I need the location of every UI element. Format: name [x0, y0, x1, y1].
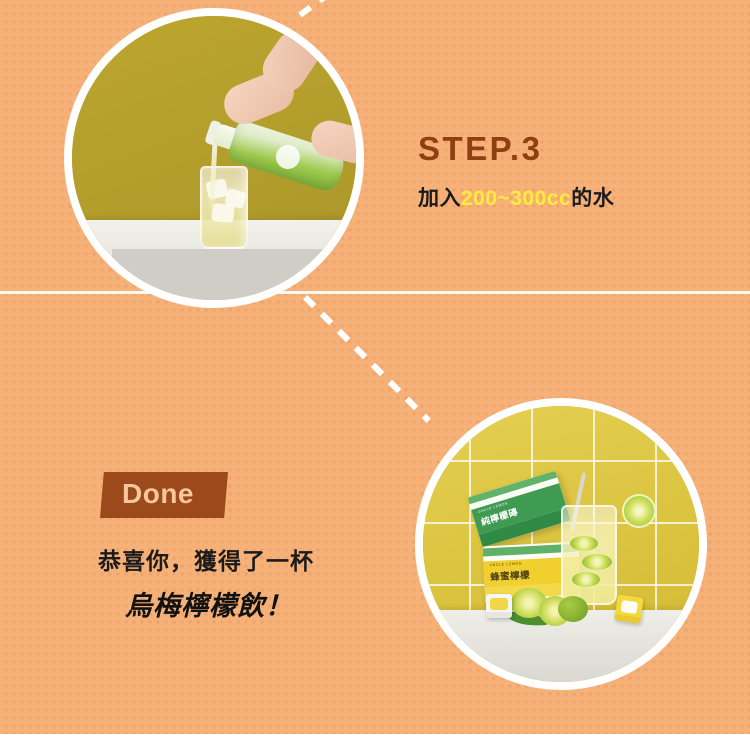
step-instruction: 加入200~300cc的水	[418, 182, 614, 212]
sachet-face-icon	[490, 598, 508, 610]
instruction-suffix: 的水	[571, 187, 614, 210]
lemon-slice	[581, 553, 613, 571]
lemon-cube-sachet-yellow	[615, 595, 644, 624]
lemon-cube-sachet-white	[486, 594, 512, 618]
done-badge-label: Done	[122, 478, 194, 509]
box-product-name: 蜂蜜檸檬	[489, 567, 530, 583]
pouring-scene	[72, 16, 356, 300]
lemon-slice	[569, 535, 599, 552]
done-badge: Done	[100, 472, 228, 518]
finished-drink-photo: UNCLE LEMON 純檸檬磚 UNCLE LEMON 蜂蜜檸檬	[415, 398, 707, 690]
product-scene: UNCLE LEMON 純檸檬磚 UNCLE LEMON 蜂蜜檸檬	[423, 406, 699, 682]
finished-lemon-drink-glass	[561, 505, 617, 605]
step3-photo	[64, 8, 364, 308]
bottom-white-strip	[0, 734, 750, 750]
instruction-highlight: 200~300cc	[461, 187, 571, 210]
glass-with-ice	[200, 166, 248, 249]
ice-cube	[211, 203, 235, 223]
dashed-line-icon-bottom	[303, 295, 431, 423]
sachet-face-icon	[621, 600, 639, 614]
instruction-prefix: 加入	[418, 187, 461, 210]
done-message-line-1: 恭喜你，獲得了一杯	[98, 542, 314, 576]
lemon-slice	[571, 571, 601, 588]
step-title: STEP.3	[418, 130, 542, 168]
done-message-line-2: 烏梅檸檬飲！	[125, 584, 293, 623]
promo-infographic-page: STEP.3 加入200~300cc的水 Done 恭喜你，獲得了一杯 烏梅檸檬…	[0, 0, 750, 750]
sachet-bottom-band	[486, 612, 512, 618]
dashed-line-icon-top	[298, 0, 407, 17]
table-front-edge	[112, 249, 364, 300]
